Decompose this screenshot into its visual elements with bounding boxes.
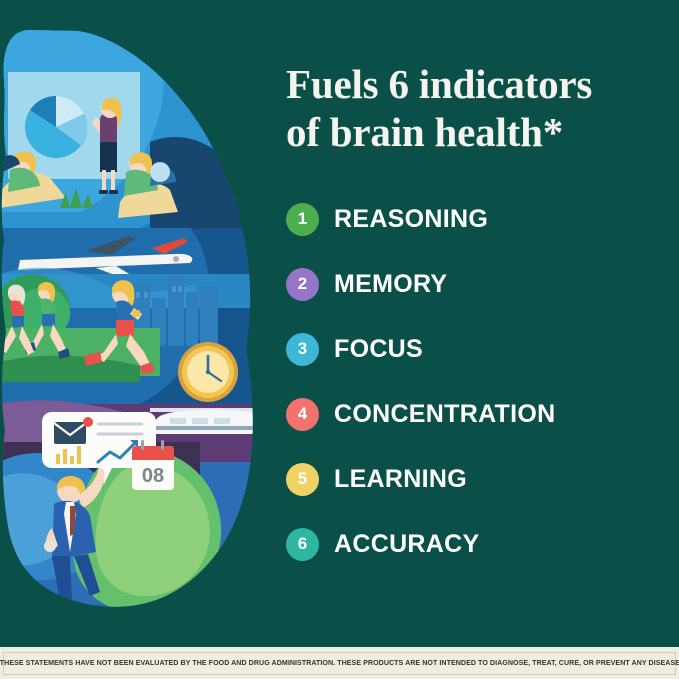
indicator-badge-5: 5: [286, 463, 319, 496]
train: [150, 408, 270, 434]
analog-clock: [178, 342, 238, 402]
headline-line-1: Fuels 6 indicators: [286, 61, 592, 107]
commuter-scene: 08: [0, 400, 270, 622]
indicator-badge-2: 2: [286, 268, 319, 301]
indicator-badge-3: 3: [286, 333, 319, 366]
indicator-badge-1: 1: [286, 203, 319, 236]
indicator-row-memory: 2 MEMORY: [286, 252, 666, 317]
footnote-box: *THESE STATEMENTS HAVE NOT BEEN EVALUATE…: [3, 652, 676, 675]
indicator-row-concentration: 4 CONCENTRATION: [286, 382, 666, 447]
indicator-row-accuracy: 6 ACCURACY: [286, 512, 666, 577]
headline-line-2: of brain health*: [286, 109, 563, 155]
indicator-row-learning: 5 LEARNING: [286, 447, 666, 512]
indicator-label-6: ACCURACY: [334, 530, 479, 559]
footnote-bar: *THESE STATEMENTS HAVE NOT BEEN EVALUATE…: [0, 647, 679, 679]
indicator-label-1: REASONING: [334, 205, 488, 234]
content-column: Fuels 6 indicators of brain health* 1 RE…: [286, 60, 666, 577]
page-title: Fuels 6 indicators of brain health*: [286, 60, 666, 157]
indicator-label-2: MEMORY: [334, 270, 447, 299]
calendar-icon: 08: [132, 440, 174, 490]
running-scene: [0, 228, 270, 408]
indicator-row-focus: 3 FOCUS: [286, 317, 666, 382]
envelope-icon: [54, 422, 86, 444]
indicator-list: 1 REASONING 2 MEMORY 3 FOCUS 4 CONCENTRA…: [286, 187, 666, 577]
indicator-label-5: LEARNING: [334, 465, 467, 494]
indicator-label-3: FOCUS: [334, 335, 423, 364]
indicator-badge-6: 6: [286, 528, 319, 561]
indicator-label-4: CONCENTRATION: [334, 400, 555, 429]
footnote-text: *THESE STATEMENTS HAVE NOT BEEN EVALUATE…: [0, 659, 679, 667]
poster-canvas: 08: [0, 0, 679, 679]
brain-illustration: 08: [0, 22, 270, 622]
indicator-badge-4: 4: [286, 398, 319, 431]
svg-text:08: 08: [142, 465, 164, 487]
indicator-row-reasoning: 1 REASONING: [286, 187, 666, 252]
